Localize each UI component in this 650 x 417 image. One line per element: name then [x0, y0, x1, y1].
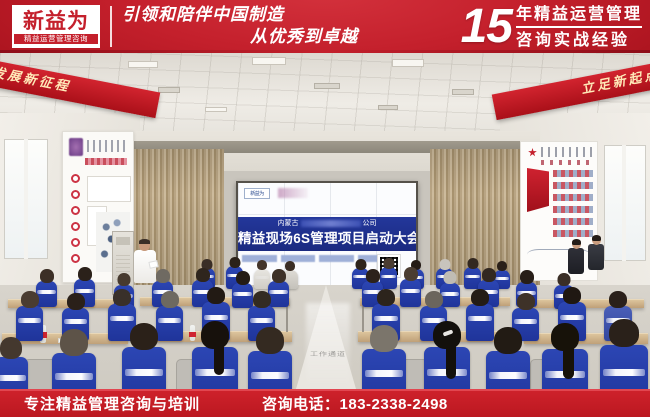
attendee	[400, 267, 421, 307]
timeline-node	[71, 206, 80, 215]
party-emblem-icon	[528, 148, 537, 157]
ceiling-light	[252, 57, 286, 65]
slide-logo-icon: 新益为	[244, 188, 270, 199]
conference-photo: 新益为 内蒙古 公司 精益现场6S管理项目启动大会 发展新征程 立足新起点	[0, 53, 650, 389]
ceiling-vent	[452, 89, 474, 95]
years-number: 15	[461, 3, 516, 51]
poster-card	[87, 176, 131, 202]
display-heading-lines	[541, 147, 593, 157]
ponytail	[214, 345, 224, 375]
display-card-row	[553, 182, 593, 189]
timeline-node	[71, 222, 80, 231]
slide-title: 精益现场6S管理项目启动大会	[238, 229, 416, 249]
attendee	[0, 337, 28, 389]
display-card-row	[553, 206, 593, 213]
attendee	[486, 327, 530, 389]
slogan-line-1: 引领和陪伴中国制造	[122, 4, 372, 26]
staff-hair	[572, 239, 581, 245]
ceiling-light	[392, 59, 424, 67]
display-card-row	[553, 194, 593, 201]
staff-body	[588, 244, 604, 270]
poster-timeline	[71, 174, 83, 274]
attendee	[192, 321, 238, 389]
poster-header: 新益为 精益运营管理咨询 引领和陪伴中国制造 从优秀到卓越 15 年精益运营管理…	[0, 0, 650, 53]
slide-org-prefix: 内蒙古	[278, 219, 299, 228]
poster-logo-blob	[69, 138, 83, 156]
floor-marking-text: 工作通道	[300, 351, 356, 359]
experience-badge: 15 年精益运营管理 咨询实战经验	[461, 1, 642, 53]
timeline-node	[71, 238, 80, 247]
slide-title-band: 内蒙古 公司 精益现场6S管理项目启动大会	[238, 217, 416, 251]
slide-decoration	[278, 188, 308, 198]
display-card-row	[553, 218, 593, 225]
years-text-block: 年精益运营管理 咨询实战经验	[516, 4, 642, 51]
floor-reflection	[306, 303, 350, 389]
attendee	[16, 291, 43, 341]
staff-body	[568, 248, 584, 274]
display-card-row	[553, 230, 593, 237]
logo-tagline-text: 精益运营管理咨询	[14, 34, 98, 44]
attendee	[600, 319, 648, 389]
presenter-hair	[139, 239, 150, 244]
poster-red-bar	[85, 158, 127, 165]
years-line-1: 年精益运营管理	[516, 4, 642, 28]
poster-heading-lines	[87, 140, 129, 152]
attendee	[542, 323, 588, 389]
window-mullion	[24, 139, 28, 259]
attendee	[52, 329, 96, 389]
timeline-node	[71, 174, 80, 183]
staff-hair	[592, 235, 601, 241]
years-line-2: 咨询实战经验	[516, 28, 642, 51]
promotional-poster: 新益为 精益运营管理咨询 引领和陪伴中国制造 从优秀到卓越 15 年精益运营管理…	[0, 0, 650, 417]
ponytail	[563, 347, 574, 379]
attendee	[362, 325, 406, 389]
timeline-node	[71, 190, 80, 199]
slogan-line-2: 从优秀到卓越	[122, 26, 372, 48]
display-subheading-lines	[541, 160, 593, 165]
attendee	[248, 327, 292, 389]
header-slogan: 引领和陪伴中国制造 从优秀到卓越	[122, 4, 372, 50]
ceiling-vent	[378, 105, 398, 110]
ceiling-light	[128, 61, 158, 68]
attendee	[424, 321, 470, 389]
display-card-row	[553, 170, 593, 177]
attendee	[122, 323, 166, 389]
ponytail	[446, 345, 456, 379]
slide-logo-text: 新益为	[250, 191, 264, 197]
ceiling-vent	[314, 83, 340, 89]
timeline-node	[71, 254, 80, 263]
display-card-rows	[553, 170, 593, 246]
slide-org-suffix: 公司	[363, 219, 377, 228]
logo-brand-text: 新益为	[23, 11, 89, 32]
ceiling-vent	[158, 87, 180, 93]
wall-display-right	[520, 141, 598, 281]
flag-graphic	[527, 168, 549, 212]
company-logo: 新益为 精益运营管理咨询	[12, 5, 100, 48]
footer-slogan: 专注精益管理咨询与培训	[0, 393, 200, 414]
window-mullion	[622, 145, 626, 261]
poster-footer: 专注精益管理咨询与培训 咨询电话：183-2338-2498	[0, 389, 650, 417]
footer-phone: 咨询电话：183-2338-2498	[200, 393, 448, 414]
slide-org-redacted	[301, 220, 361, 227]
ceiling-light	[205, 107, 227, 112]
slide-chip	[319, 255, 354, 262]
header-divider	[110, 6, 112, 47]
